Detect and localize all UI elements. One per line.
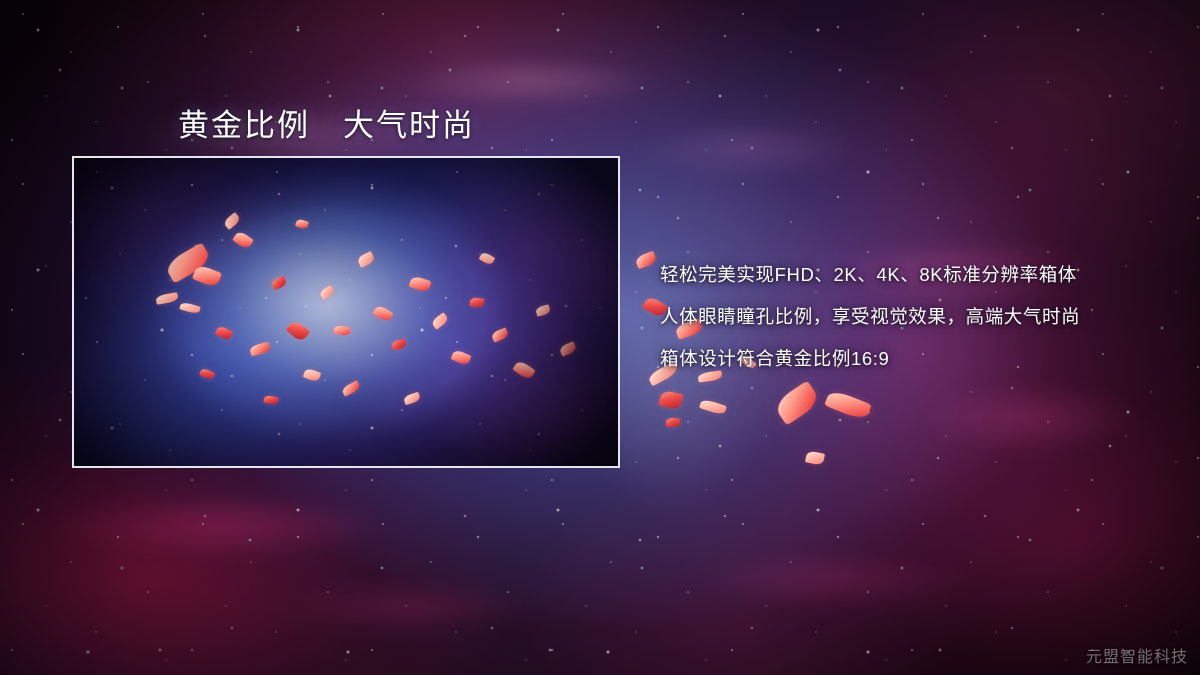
flower-petal bbox=[772, 380, 821, 425]
description-line-1: 轻松完美实现FHD、2K、4K、8K标准分辨率箱体 bbox=[660, 254, 1140, 296]
brand-watermark: 元盟智能科技 bbox=[1086, 643, 1188, 667]
flower-petal bbox=[805, 450, 825, 465]
presentation-slide: 黄金比例 大气时尚 轻松完美实现FHD、2K、4K、8K标准分辨率箱体 人体眼睛… bbox=[0, 0, 1200, 675]
led-screen-frame bbox=[72, 156, 620, 468]
page-title: 黄金比例 大气时尚 bbox=[178, 100, 475, 145]
description-line-3: 箱体设计符合黄金比例16:9 bbox=[660, 338, 1140, 380]
feature-description-block: 轻松完美实现FHD、2K、4K、8K标准分辨率箱体 人体眼睛瞳孔比例，享受视觉效… bbox=[660, 254, 1140, 380]
description-line-2: 人体眼睛瞳孔比例，享受视觉效果，高端大气时尚 bbox=[660, 296, 1140, 338]
flower-petal bbox=[666, 417, 681, 427]
screen-vignette bbox=[74, 158, 618, 466]
flower-petal bbox=[699, 398, 727, 416]
flower-petal bbox=[634, 251, 657, 270]
flower-petal bbox=[824, 388, 872, 421]
flower-petal bbox=[658, 390, 683, 411]
